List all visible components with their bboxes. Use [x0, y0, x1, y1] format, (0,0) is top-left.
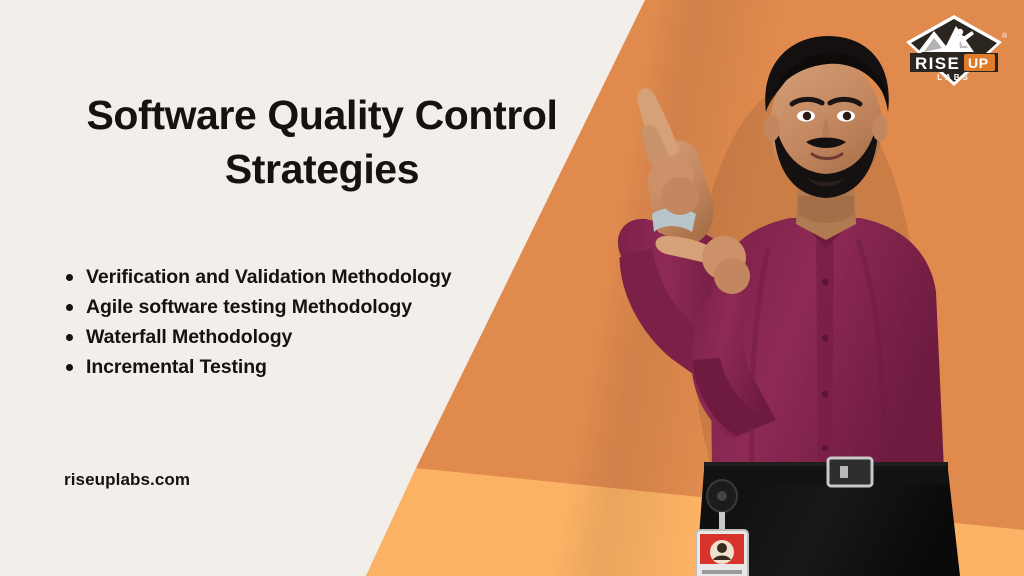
- list-item: Agile software testing Methodology: [86, 292, 626, 322]
- slide-headline: Software Quality Control Strategies: [42, 88, 602, 196]
- presentation-slide: Software Quality Control Strategies Veri…: [0, 0, 1024, 576]
- website-url: riseuplabs.com: [64, 470, 190, 490]
- list-item: Verification and Validation Methodology: [86, 262, 626, 292]
- logo-labs-text: LABS: [937, 73, 971, 82]
- logo-up-text: UP: [968, 55, 989, 71]
- logo-rise-text: RISE: [915, 54, 960, 73]
- list-item: Incremental Testing: [86, 352, 626, 382]
- list-item: Waterfall Methodology: [86, 322, 626, 352]
- logo-trademark-text: ®: [1002, 32, 1008, 40]
- strategy-list: Verification and Validation Methodology …: [62, 262, 626, 382]
- riseup-labs-logo[interactable]: RISE UP LABS ®: [898, 12, 1010, 90]
